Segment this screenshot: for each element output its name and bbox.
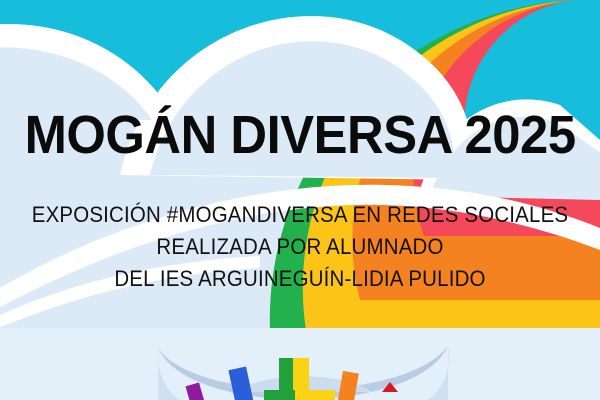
page-title: MOGÁN DIVERSA 2025 [24, 106, 575, 164]
subtitle-line-3: DEL IES ARGUINEGUÍN-LIDIA PULIDO [21, 263, 579, 295]
crayon-yellow-base [295, 390, 335, 400]
subtitle-line-1: EXPOSICIÓN #MOGANDIVERSA EN REDES SOCIAL… [21, 199, 579, 231]
title-block: MOGÁN DIVERSA 2025 [0, 106, 600, 164]
poster-canvas: MOGÁN DIVERSA 2025 EXPOSICIÓN #MOGANDIVE… [0, 0, 600, 400]
subtitle-line-2: REALIZADA POR ALUMNADO [21, 231, 579, 263]
subtitle-block: EXPOSICIÓN #MOGANDIVERSA EN REDES SOCIAL… [0, 199, 600, 295]
